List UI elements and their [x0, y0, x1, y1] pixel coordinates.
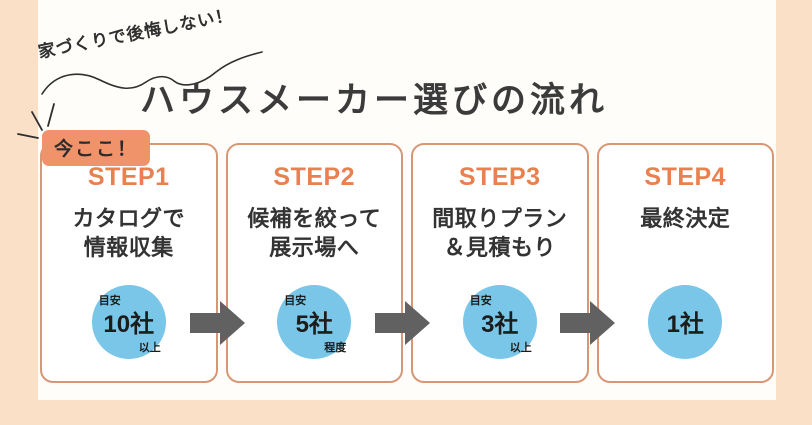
now-here-badge: 今ここ！ — [42, 130, 150, 166]
arrow-step1-to-step2 — [190, 300, 246, 346]
arrow-step2-to-step3 — [375, 300, 431, 346]
step-count-circle-2: 目安 5社 程度 — [277, 285, 351, 359]
page-title: ハウスメーカー選びの流れ — [140, 72, 608, 123]
circle-count: 5社 — [277, 304, 351, 339]
step-body-line: 候補を絞って — [247, 204, 381, 233]
step-count-circle-4: 1社 — [648, 285, 722, 359]
infographic-root: 家づくりで後悔しない！ ハウスメーカー選びの流れ 今ここ！ STEP1 カタログ… — [0, 0, 812, 425]
circle-count: 10社 — [92, 304, 166, 339]
step-count-circle-1: 目安 10社 以上 — [92, 285, 166, 359]
step-body-line: 間取りプラン — [432, 204, 567, 233]
step-body-2: 候補を絞って 展示場へ — [247, 204, 381, 263]
step-body-4: 最終決定 — [640, 204, 730, 233]
arrow-step3-to-step4 — [560, 300, 616, 346]
step-body-line: 展示場へ — [247, 233, 381, 262]
step-card-3: STEP3 間取りプラン ＆見積もり 目安 3社 以上 — [411, 143, 589, 383]
circle-caption-bottom: 以上 — [510, 339, 532, 355]
step-body-line: ＆見積もり — [432, 233, 567, 262]
step-label-4: STEP4 — [644, 165, 726, 190]
step-card-2: STEP2 候補を絞って 展示場へ 目安 5社 程度 — [226, 143, 404, 383]
circle-count: 3社 — [463, 304, 537, 339]
step-card-4: STEP4 最終決定 1社 — [597, 143, 775, 383]
step-body-line: カタログで — [72, 204, 185, 233]
step-body-line: 最終決定 — [640, 204, 730, 233]
step-body-line: 情報収集 — [72, 233, 185, 262]
step-label-3: STEP3 — [459, 165, 541, 190]
step-body-1: カタログで 情報収集 — [72, 204, 185, 263]
step-label-2: STEP2 — [273, 165, 355, 190]
step-card-1: STEP1 カタログで 情報収集 目安 10社 以上 — [40, 143, 218, 383]
circle-caption-bottom: 以上 — [139, 339, 161, 355]
circle-caption-bottom: 程度 — [324, 339, 346, 355]
step-label-1: STEP1 — [88, 165, 170, 190]
steps-row: STEP1 カタログで 情報収集 目安 10社 以上 STEP2 候補を絞って … — [40, 143, 774, 383]
circle-count: 1社 — [648, 304, 722, 339]
step-count-circle-3: 目安 3社 以上 — [463, 285, 537, 359]
step-body-3: 間取りプラン ＆見積もり — [432, 204, 567, 263]
